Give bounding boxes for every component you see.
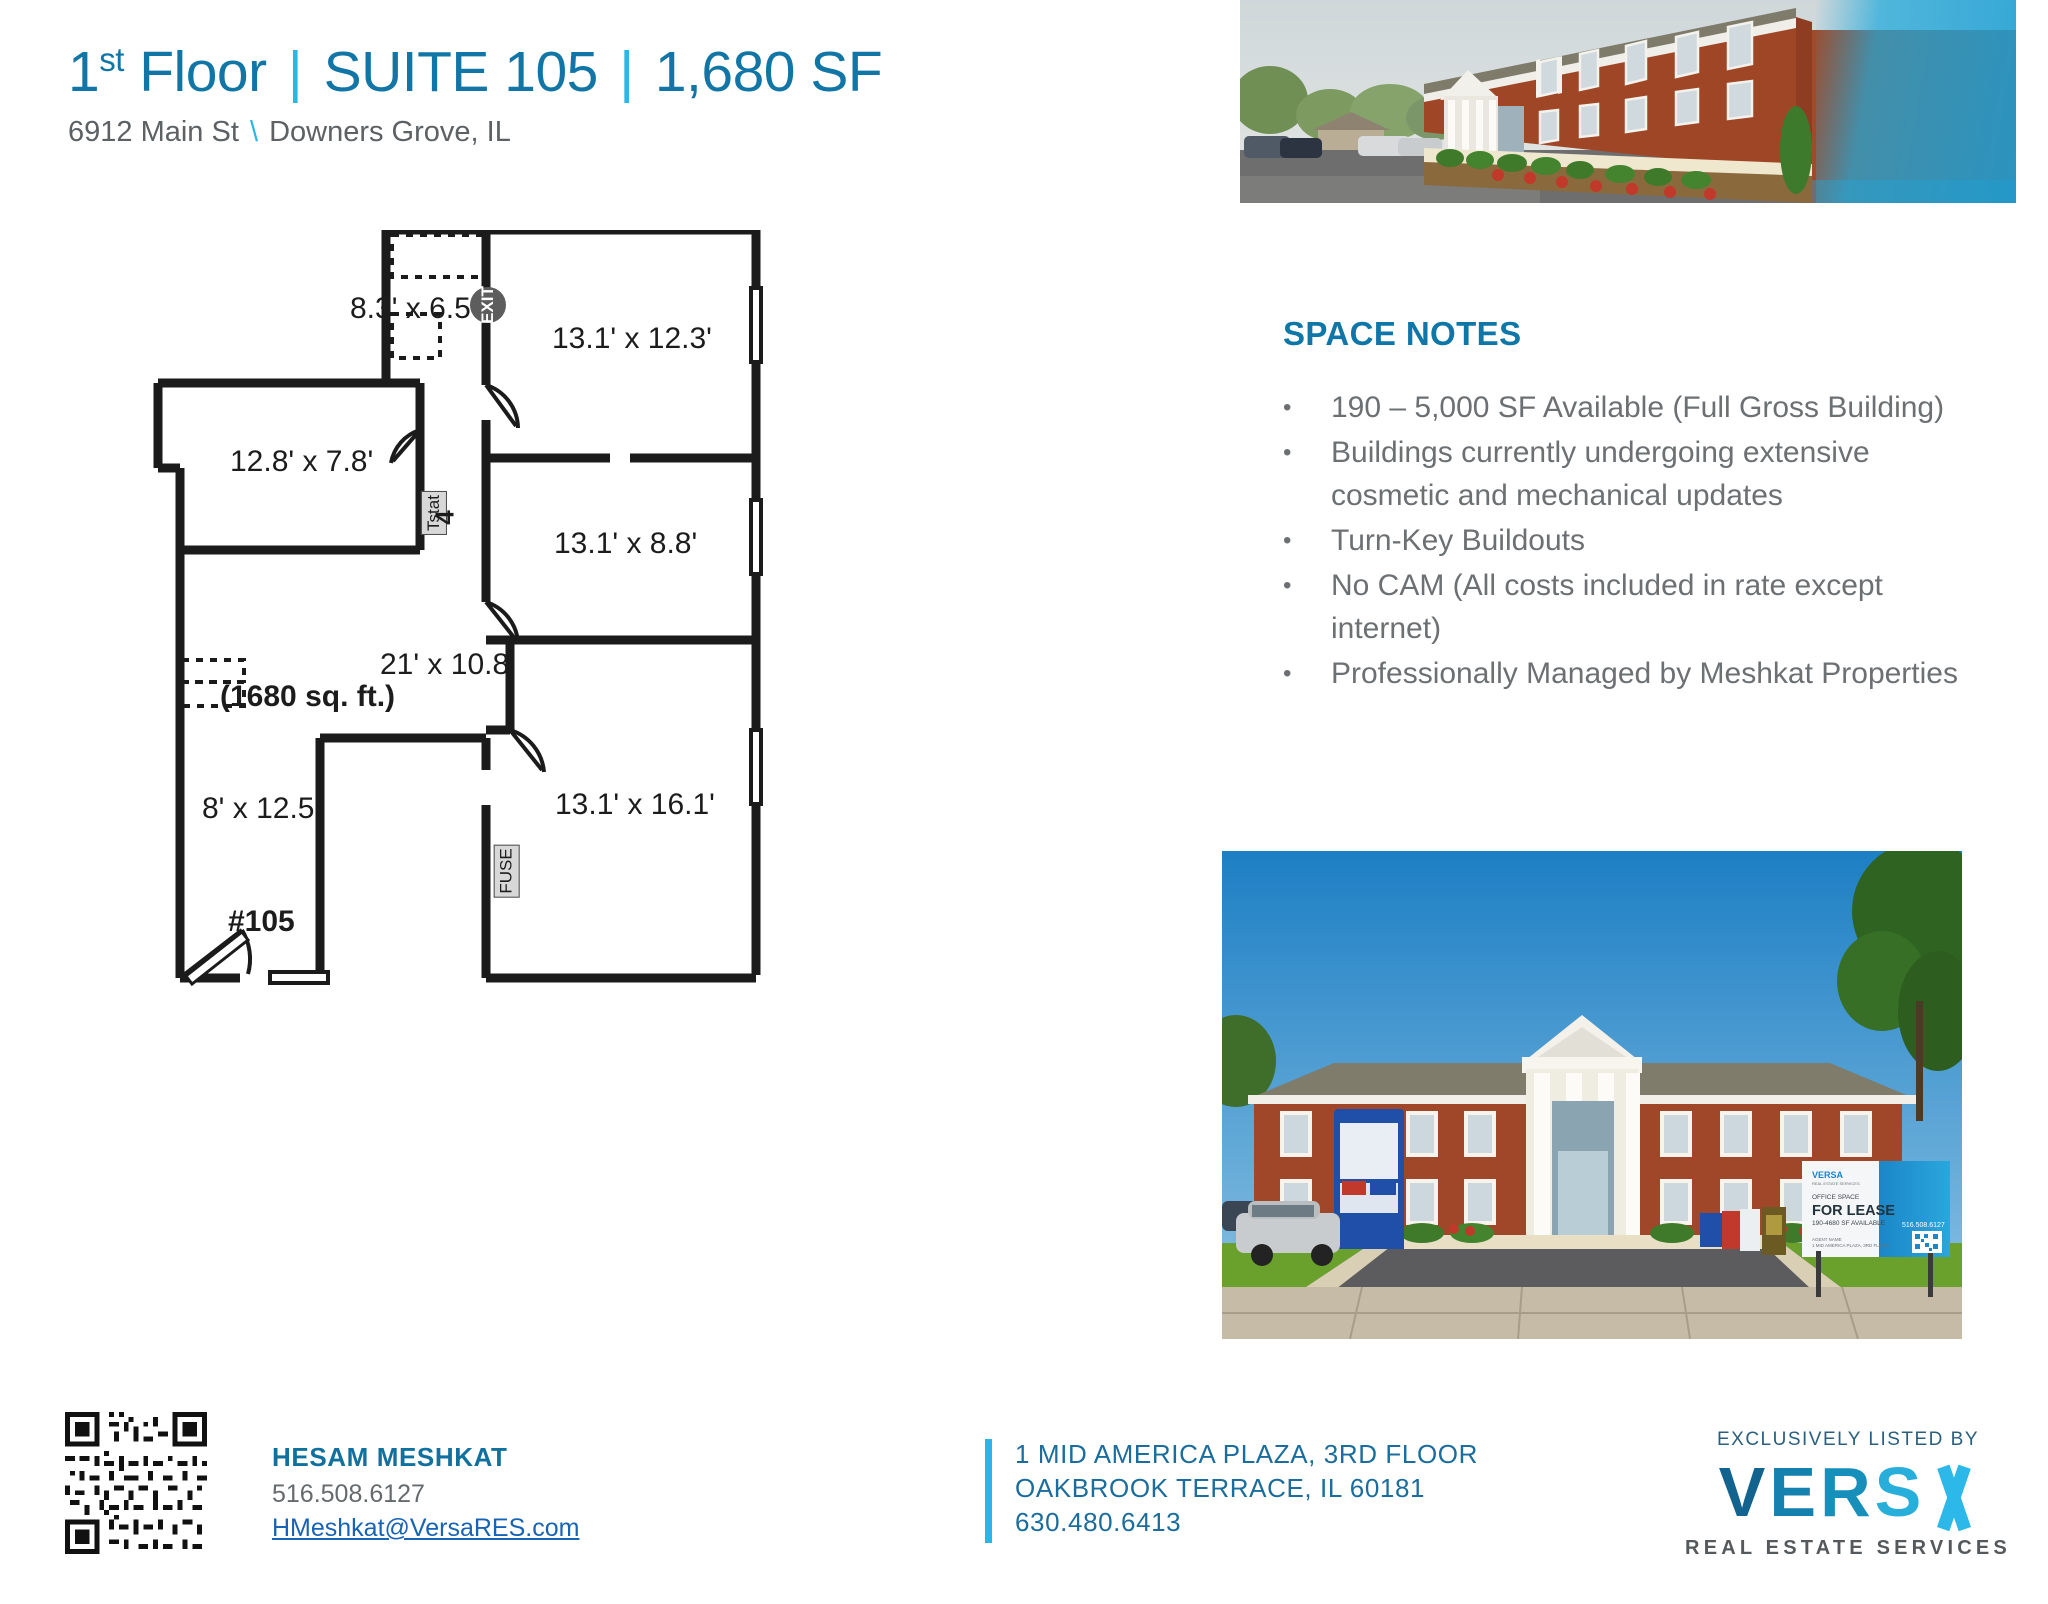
note-text: 190 – 5,000 SF Available (Full Gross Bui… [1331,386,1944,429]
total-area-label: (1680 sq. ft.) [220,680,395,714]
list-item: • Turn-Key Buildouts [1283,519,1983,562]
bullet-icon: • [1283,519,1331,562]
list-item: • Professionally Managed by Meshkat Prop… [1283,652,1983,695]
title-floor-number: 1 [68,40,99,104]
space-notes-list: • 190 – 5,000 SF Available (Full Gross B… [1283,386,1983,695]
exclusively-listed-by-label: EXCLUSIVELY LISTED BY [1683,1429,2013,1451]
space-notes-title: SPACE NOTES [1283,315,1983,353]
room-label-13-1x8-8: 13.1' x 8.8' [554,527,697,561]
page-header: 1st Floor | SUITE 105 | 1,680 SF 6912 Ma… [68,40,1048,149]
room-label-13-1x12-3: 13.1' x 12.3' [552,322,712,356]
list-item: • 190 – 5,000 SF Available (Full Gross B… [1283,386,1983,429]
logo-chevron-a-icon [1931,1463,1977,1527]
bullet-icon: • [1283,564,1331,650]
svg-text:REAL ESTATE SERVICES: REAL ESTATE SERVICES [1812,1181,1860,1186]
versa-tagline: REAL ESTATE SERVICES [1683,1537,2013,1560]
note-text: Buildings currently undergoing extensive… [1331,431,1983,517]
svg-text:FOR LEASE: FOR LEASE [1812,1203,1895,1219]
agent-name: HESAM MESHKAT [272,1442,579,1473]
qr-code[interactable] [65,1412,207,1554]
room-label-12-8x7-8: 12.8' x 7.8' [230,445,373,479]
bullet-icon: • [1283,386,1331,429]
title-ordinal-suffix: st [99,41,124,78]
title-floor-word: Floor [124,40,282,104]
agent-contact-block: HESAM MESHKAT 516.508.6127 HMeshkat@Vers… [272,1442,579,1543]
flyer-page: 1st Floor | SUITE 105 | 1,680 SF 6912 Ma… [0,0,2048,1604]
address-line-2: OAKBROOK TERRACE, IL 60181 [1015,1471,1478,1505]
bullet-icon: • [1283,652,1331,695]
list-item: • No CAM (All costs included in rate exc… [1283,564,1983,650]
room-label-8x12-5: 8' x 12.5' [202,792,320,826]
exit-icon: EXIT [470,287,506,323]
suite-number-label: #105 [228,905,295,939]
company-address-block: 1 MID AMERICA PLAZA, 3RD FLOOR OAKBROOK … [985,1437,1478,1539]
building-photo-angled [1240,0,2016,203]
note-text: Turn-Key Buildouts [1331,519,1585,562]
svg-text:516.508.6127: 516.508.6127 [1902,1222,1945,1229]
title-separator-2: | [613,40,639,104]
logo-letter-r: R [1820,1457,1875,1527]
logo-letter-v: V [1719,1457,1770,1527]
logo-letter-s: S [1875,1457,1926,1527]
subtitle-separator: \ [247,116,261,148]
fuse-panel-label: FUSE [494,844,520,897]
versa-wordmark: V E R S [1683,1457,2013,1527]
agent-email-link[interactable]: HMeshkat@VersaRES.com [272,1514,579,1543]
svg-text:190-4680 SF AVAILABLE: 190-4680 SF AVAILABLE [1812,1220,1886,1227]
floor-plan: 8.3' x 6.5' 13.1' x 12.3' 12.8' x 7.8' 1… [150,230,1030,1310]
versa-logo-block: EXCLUSIVELY LISTED BY V E R S REAL ESTAT… [1683,1429,2013,1560]
agent-phone[interactable]: 516.508.6127 [272,1480,579,1509]
room-label-8-3x6-5: 8.3' x 6.5' [350,292,477,326]
address-accent-bar [985,1439,992,1543]
subtitle-city: Downers Grove, IL [261,116,511,148]
note-text: No CAM (All costs included in rate excep… [1331,564,1983,650]
building-photo-frontal: VERSA REAL ESTATE SERVICES OFFICE SPACE … [1222,851,1962,1339]
address-line-1: 1 MID AMERICA PLAZA, 3RD FLOOR [1015,1437,1478,1471]
page-title: 1st Floor | SUITE 105 | 1,680 SF [68,40,1048,106]
note-text: Professionally Managed by Meshkat Proper… [1331,652,1958,695]
company-phone[interactable]: 630.480.6413 [1015,1505,1478,1539]
bullet-icon: • [1283,431,1331,517]
svg-text:AGENT NAME: AGENT NAME [1812,1237,1842,1242]
title-suite: SUITE 105 [308,40,613,104]
sign-brand-text: VERSA [1812,1170,1844,1180]
title-separator-1: | [282,40,308,104]
cyan-gradient-overlay [1816,0,2016,203]
subtitle-street: 6912 Main St [68,116,247,148]
room-label-13-1x16-1: 13.1' x 16.1' [555,788,715,822]
qr-code-art [65,1412,207,1554]
room-label-21x10-8: 21' x 10.8' [380,648,515,682]
svg-text:1 MID AMERICA PLAZA, 3RD FLOOR: 1 MID AMERICA PLAZA, 3RD FLOOR [1812,1243,1890,1248]
page-subtitle-address: 6912 Main St \ Downers Grove, IL [68,116,1048,149]
title-square-feet: 1,680 SF [640,40,883,104]
thermostat-number-label: 4 [430,510,461,524]
building-photo-frontal-art: VERSA REAL ESTATE SERVICES OFFICE SPACE … [1222,851,1962,1339]
svg-text:OFFICE SPACE: OFFICE SPACE [1812,1194,1860,1201]
floor-plan-walls [150,230,1030,1310]
logo-letter-e: E [1769,1457,1820,1527]
space-notes-section: SPACE NOTES • 190 – 5,000 SF Available (… [1283,315,1983,697]
list-item: • Buildings currently undergoing extensi… [1283,431,1983,517]
